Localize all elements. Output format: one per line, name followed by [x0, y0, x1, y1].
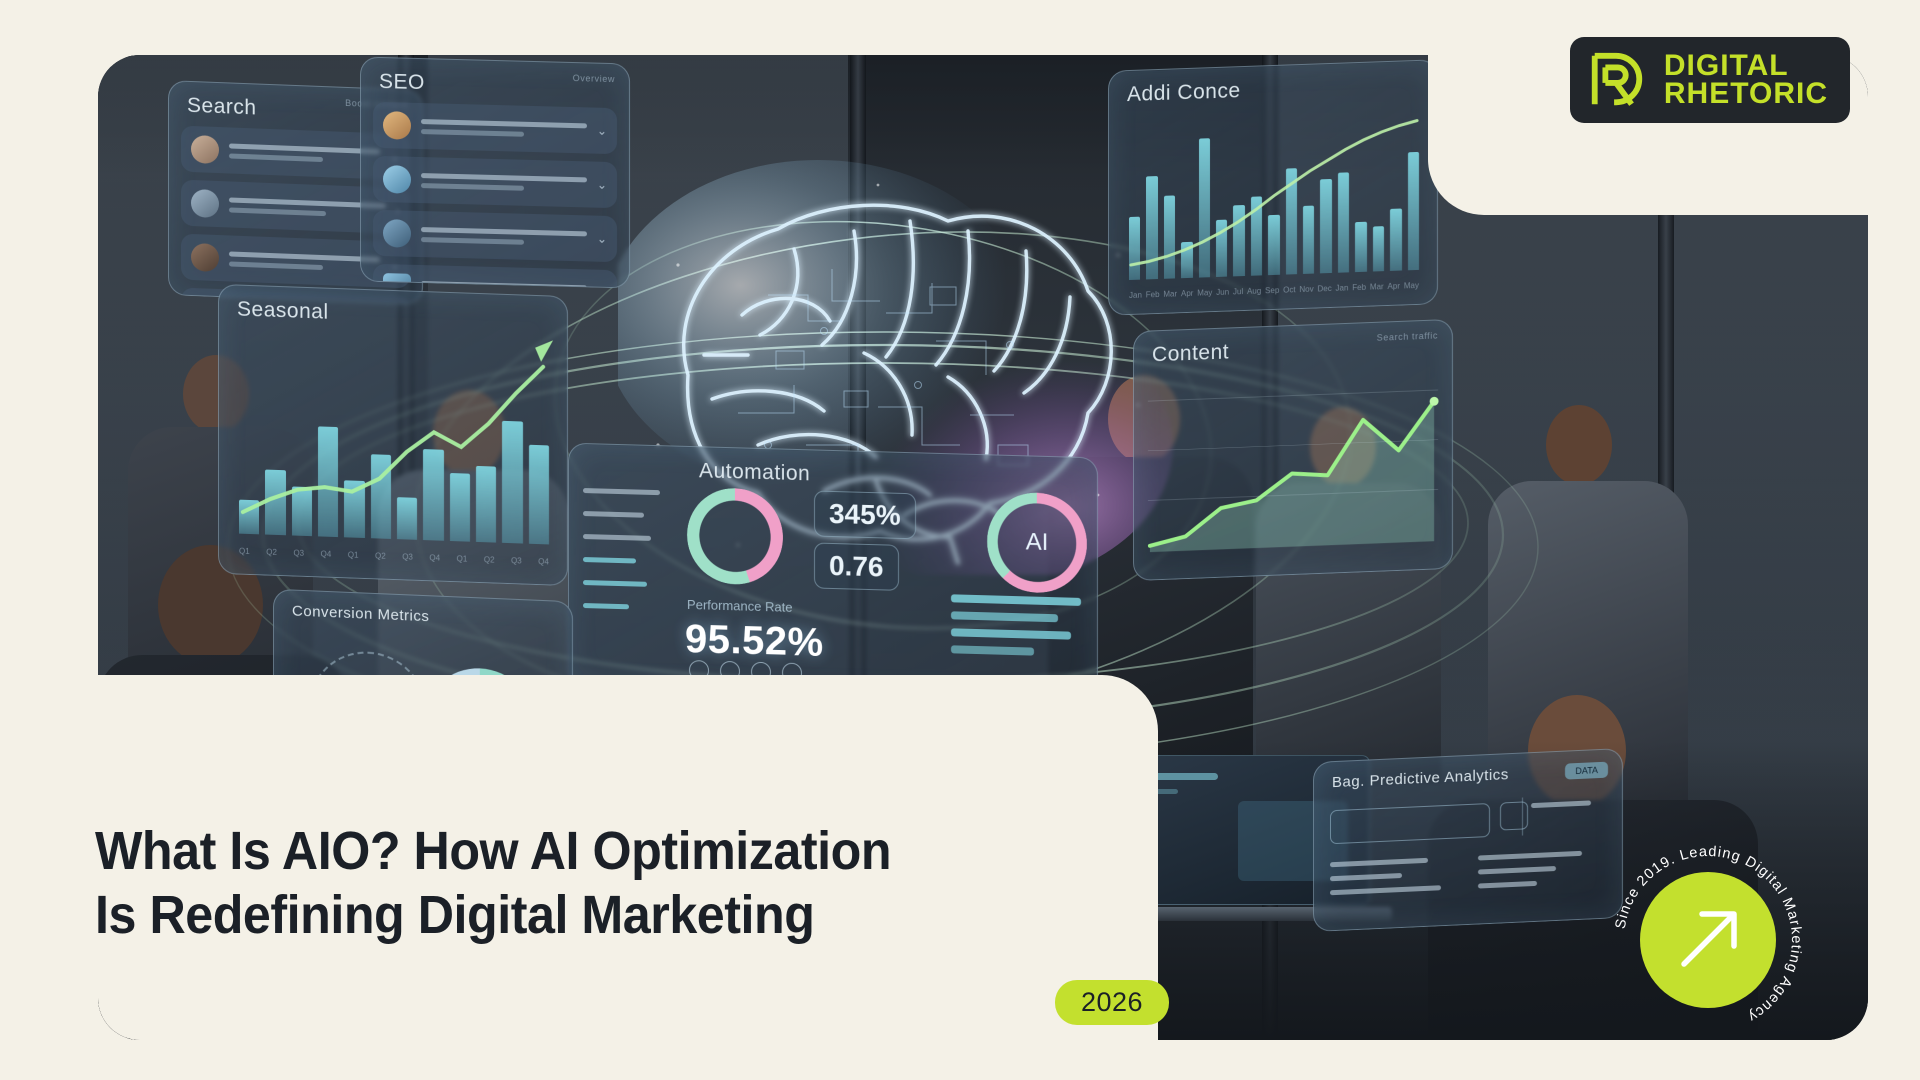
- axis-tick-label: Q1: [239, 547, 250, 556]
- panel-audience-bars[interactable]: Addi Conce JanFebMarAprMayJunJulAugSepOc…: [1108, 59, 1438, 316]
- panel-seo-title: SEO: [361, 57, 629, 100]
- axis-tick-label: Q2: [375, 551, 386, 560]
- page-title: What Is AIO? How AI Optimization Is Rede…: [95, 820, 1137, 947]
- kpi-score-value: 0.76: [829, 550, 884, 583]
- axis-tick-label: May: [1404, 281, 1419, 291]
- seo-list-item[interactable]: ⌄: [373, 210, 617, 262]
- brand-logo-text: DIGITAL RHETORIC: [1664, 52, 1828, 109]
- agency-stamp[interactable]: Since 2019. Leading Digital Marketing Ag…: [1608, 840, 1808, 1040]
- bar: [476, 466, 496, 543]
- axis-tick-label: Q3: [511, 556, 522, 565]
- page-title-line-1: What Is AIO? How AI Optimization: [95, 821, 891, 881]
- axis-tick-label: Q3: [293, 549, 304, 558]
- axis-tick-label: May: [1197, 288, 1212, 298]
- seo-list-item[interactable]: ⌄: [373, 102, 617, 154]
- bar: [1338, 173, 1349, 273]
- brand-logo[interactable]: DIGITAL RHETORIC: [1570, 37, 1850, 123]
- axis-tick-label: Jul: [1233, 287, 1243, 296]
- kpi-growth-value: 345%: [829, 498, 901, 531]
- axis-tick-label: Q3: [402, 552, 413, 561]
- area-chart-content: [1134, 320, 1452, 581]
- logo-line-1: DIGITAL: [1664, 52, 1828, 81]
- axis-tick-label: Feb: [1352, 283, 1366, 292]
- page-title-line-2: Is Redefining Digital Marketing: [95, 884, 1137, 948]
- bar: [1268, 214, 1279, 275]
- bar: [423, 449, 443, 541]
- bar: [1181, 242, 1192, 279]
- bar: [292, 486, 312, 536]
- list-item-text: [229, 143, 380, 164]
- bar: [1216, 219, 1227, 277]
- bar: [1355, 222, 1366, 272]
- axis-tick-label: Q1: [457, 554, 468, 563]
- list-item-text: [421, 119, 587, 138]
- axis-tick-label: Feb: [1146, 290, 1160, 299]
- seo-list-item[interactable]: ⌄: [373, 156, 617, 208]
- chevron-down-icon[interactable]: ⌄: [597, 178, 607, 192]
- donut-ai-label: AI: [987, 527, 1087, 558]
- avatar: [191, 243, 219, 272]
- logo-line-2: RHETORIC: [1664, 80, 1828, 109]
- bar: [1233, 205, 1244, 276]
- automation-progress-bars: [951, 594, 1081, 662]
- axis-tick-label: Q1: [348, 550, 359, 559]
- predictive-search-box[interactable]: [1330, 803, 1490, 844]
- panel-seo[interactable]: Overview SEO ⌄ ⌄ ⌄ ⌄: [360, 56, 630, 288]
- bar-chart-seasonal: [239, 344, 549, 545]
- bar: [265, 470, 285, 535]
- panel-seasonal[interactable]: Seasonal Q1Q2Q3Q4Q1Q2Q3Q4Q1Q2Q3Q4: [218, 284, 568, 586]
- axis-tick-label: Apr: [1388, 282, 1400, 291]
- list-item-text: [421, 173, 587, 192]
- axis-tick-label: Apr: [1181, 289, 1193, 298]
- list-item-text: [229, 251, 380, 272]
- avatar: [383, 111, 411, 140]
- panel-content[interactable]: Search traffic Content: [1133, 319, 1453, 581]
- bar-chart-axis: JanFebMarAprMayJunJulAugSepOctNovDecJanF…: [1129, 281, 1419, 300]
- shield-icon: [383, 219, 411, 248]
- axis-tick-label: Mar: [1370, 282, 1384, 291]
- axis-tick-label: Nov: [1299, 285, 1313, 294]
- bar: [318, 426, 338, 537]
- bar: [1373, 226, 1384, 272]
- bar: [397, 497, 417, 540]
- bar: [1408, 152, 1419, 270]
- axis-tick-label: Jan: [1336, 283, 1349, 292]
- axis-tick-label: Dec: [1317, 284, 1331, 293]
- chevron-down-icon[interactable]: ⌄: [597, 124, 607, 138]
- axis-tick-label: Mar: [1163, 289, 1177, 298]
- axis-tick-label: Jun: [1216, 288, 1229, 297]
- kpi-score: 0.76: [814, 542, 899, 590]
- panel-automation[interactable]: Automation AI 345% 0.76 Performance Rate…: [568, 443, 1098, 703]
- bar: [1199, 138, 1210, 277]
- bar: [239, 499, 259, 534]
- donut-chart-automation: [687, 487, 783, 586]
- bar: [371, 455, 391, 539]
- bar: [1303, 206, 1314, 274]
- bar: [502, 421, 522, 543]
- axis-tick-label: Aug: [1247, 286, 1261, 295]
- bar: [529, 445, 549, 545]
- kpi-growth: 345%: [814, 490, 916, 539]
- bar-chart-audience: [1129, 119, 1419, 280]
- bar-chart-axis: Q1Q2Q3Q4Q1Q2Q3Q4Q1Q2Q3Q4: [239, 547, 549, 567]
- automation-side-list: [583, 488, 675, 616]
- list-item-text: [421, 227, 587, 246]
- year-badge: 2026: [1055, 980, 1169, 1025]
- bar: [1286, 168, 1297, 274]
- avatar: [191, 189, 219, 218]
- chevron-down-icon[interactable]: ⌄: [597, 232, 607, 246]
- panel-predictive-analytics[interactable]: Bag. Predictive Analytics DATA: [1313, 748, 1623, 932]
- bar: [1146, 176, 1157, 279]
- arrow-up-right-icon: [1640, 872, 1776, 1008]
- predictive-tag: DATA: [1565, 762, 1608, 780]
- bar: [1129, 216, 1140, 280]
- axis-tick-label: Q4: [429, 553, 440, 562]
- axis-tick-label: Q2: [266, 548, 277, 557]
- axis-tick-label: Q4: [538, 557, 549, 566]
- bar: [1164, 195, 1175, 278]
- bar: [1251, 197, 1262, 276]
- axis-tick-label: Sep: [1265, 286, 1279, 295]
- avatar: [191, 135, 219, 164]
- bar: [450, 473, 470, 542]
- axis-tick-label: Oct: [1283, 285, 1295, 294]
- axis-tick-label: Jan: [1129, 291, 1142, 300]
- performance-rate-label: Performance Rate: [687, 597, 793, 615]
- rhetoric-r-monogram-icon: [1586, 49, 1648, 111]
- bar: [344, 480, 364, 538]
- performance-rate-value: 95.52%: [685, 617, 824, 666]
- avatar: [383, 165, 411, 194]
- bar: [1320, 179, 1331, 273]
- axis-tick-label: Q4: [321, 549, 332, 558]
- bar: [1390, 209, 1401, 271]
- predictive-table: [1330, 850, 1608, 901]
- predictive-summary-card: [1522, 794, 1608, 836]
- axis-tick-label: Q2: [484, 555, 495, 564]
